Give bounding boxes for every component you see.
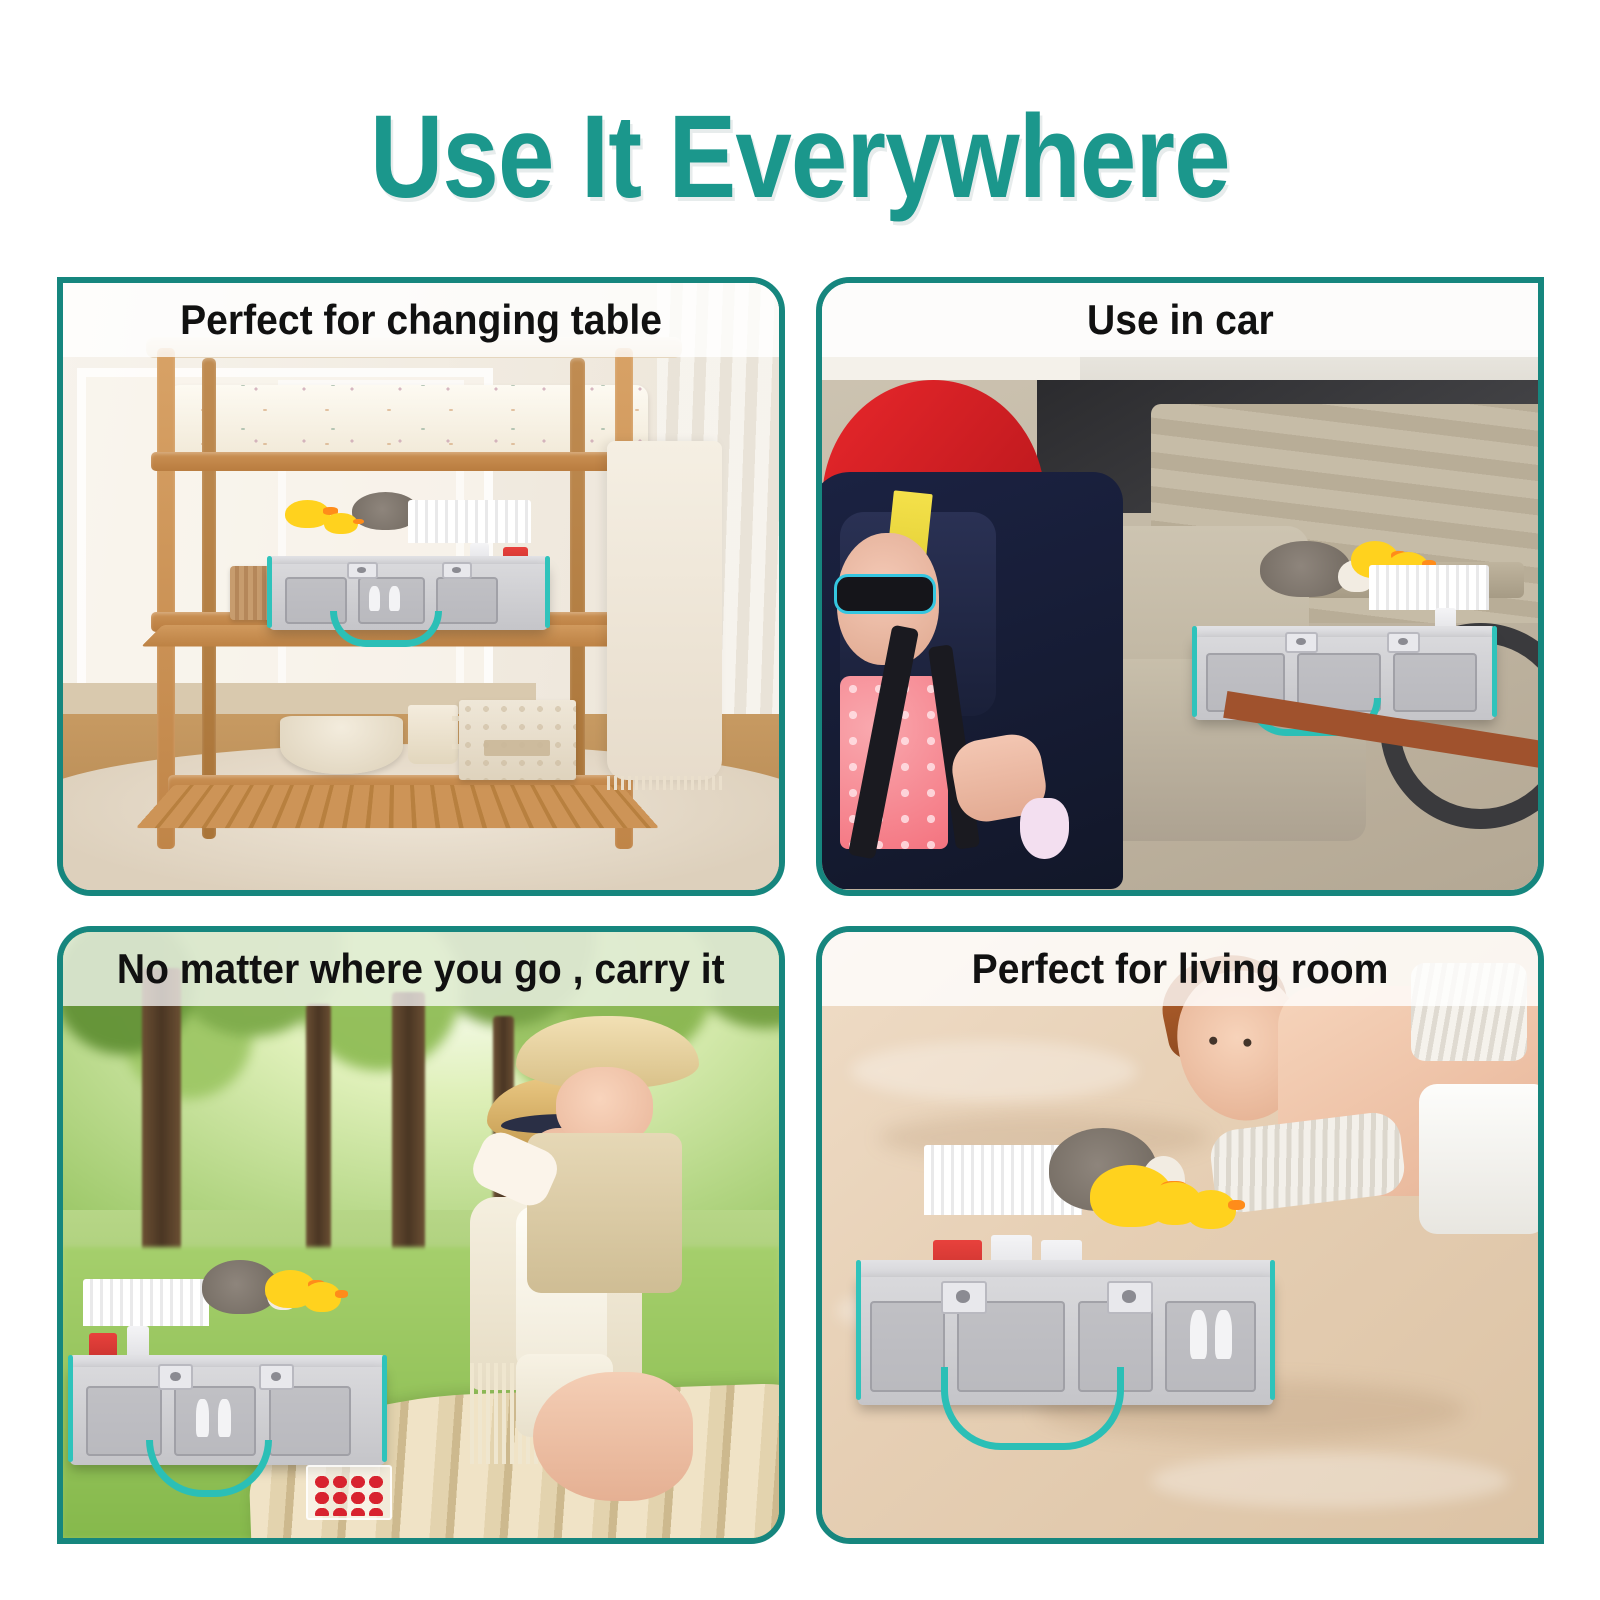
hanging-throw-blanket — [607, 441, 722, 781]
caddy-snap — [259, 1364, 294, 1389]
panel-car[interactable]: Use in car — [816, 277, 1544, 896]
caddy-trim-right — [545, 556, 550, 629]
baby-eye — [1208, 1036, 1217, 1045]
photo-changing-table: Perfect for changing table — [63, 283, 779, 890]
caption-band-car: Use in car — [822, 283, 1538, 357]
caddy-pocket — [436, 577, 497, 624]
wash-bowl — [280, 716, 403, 775]
infant-car-seat — [822, 380, 1123, 889]
diaper-caddy-organizer — [70, 1308, 385, 1466]
spoon — [196, 1399, 209, 1437]
duck-toy-icon — [324, 513, 358, 534]
mother-legs — [533, 1372, 693, 1501]
diaper-stack — [1369, 565, 1489, 610]
caddy-snap — [941, 1281, 987, 1314]
baby-diaper — [1419, 1084, 1538, 1234]
table-leg-left — [157, 348, 175, 850]
panel-living-room[interactable]: Perfect for living room — [816, 926, 1544, 1545]
hedgehog-plush-icon — [1260, 541, 1350, 597]
caption-outdoors: No matter where you go , carry it — [117, 947, 725, 991]
caption-changing-table: Perfect for changing table — [180, 298, 662, 342]
park-scene — [63, 932, 779, 1539]
photo-living-room: Perfect for living room — [822, 932, 1538, 1539]
car-interior-scene — [822, 283, 1538, 890]
sunglasses-icon — [834, 574, 936, 615]
caddy-trim-right — [1492, 626, 1497, 717]
baby-sock — [1020, 798, 1068, 859]
caption-band-changing-table: Perfect for changing table — [63, 283, 779, 357]
grooming-spoon — [1190, 1310, 1207, 1359]
diaper-stack — [83, 1279, 209, 1326]
caddy-trim-right — [1270, 1260, 1275, 1400]
panel-grid: Perfect for changing table — [57, 277, 1544, 1544]
panel-outdoors[interactable]: No matter where you go , carry it — [57, 926, 785, 1545]
strawberry-container — [306, 1465, 392, 1520]
caddy-pocket — [870, 1301, 945, 1392]
caption-band-outdoors: No matter where you go , carry it — [63, 932, 779, 1006]
tree-trunk — [392, 992, 424, 1271]
caddy-snap — [1285, 632, 1318, 653]
caddy-snap — [442, 562, 473, 579]
pitcher — [408, 705, 458, 764]
spoon — [369, 586, 380, 612]
caddy-snap — [158, 1364, 193, 1389]
caddy-trim-right — [382, 1355, 387, 1462]
table-shelf-top — [151, 452, 642, 471]
diaper-stack — [408, 500, 531, 543]
photo-outdoors: No matter where you go , carry it — [63, 932, 779, 1539]
caddy-snap — [1107, 1281, 1153, 1314]
grooming-scissors — [1215, 1310, 1232, 1359]
diaper-caddy-organizer — [858, 1198, 1273, 1404]
spoon — [389, 586, 400, 612]
caption-band-living-room: Perfect for living room — [822, 932, 1538, 1006]
duck-toy-icon — [285, 500, 330, 528]
caddy-trim-left — [856, 1260, 861, 1400]
photo-car: Use in car — [822, 283, 1538, 890]
page-title: Use It Everywhere — [0, 92, 1600, 222]
caddy-trim-left — [68, 1355, 73, 1462]
tree-trunk — [142, 968, 181, 1259]
blanket-scene — [822, 932, 1538, 1539]
caddy-snap — [347, 562, 378, 579]
tree-trunk — [306, 1004, 331, 1259]
table-bottom-slats — [135, 785, 659, 828]
duck-toy-icon — [303, 1282, 341, 1312]
caddy-pocket — [1165, 1301, 1256, 1392]
panel-changing-table[interactable]: Perfect for changing table — [57, 277, 785, 896]
blanket-fold — [851, 1041, 1137, 1102]
caddy-snap — [1387, 632, 1420, 653]
caddy-pocket — [1393, 653, 1477, 712]
storage-box-label — [484, 740, 550, 756]
table-leg-left-back — [202, 358, 217, 838]
caddy-pocket — [269, 1386, 351, 1455]
baby-figure — [493, 1016, 779, 1380]
caddy-trim-left — [1192, 626, 1197, 717]
duck-toy-icon — [1186, 1190, 1236, 1229]
nursery-scene — [63, 283, 779, 890]
caddy-trim-left — [267, 556, 272, 629]
caption-car: Use in car — [1087, 298, 1274, 342]
baby-eye — [1242, 1038, 1251, 1047]
caption-living-room: Perfect for living room — [972, 947, 1389, 991]
blanket-fold — [1151, 1453, 1509, 1508]
caddy-handle — [941, 1367, 1124, 1449]
infographic-page: Use It Everywhere — [0, 0, 1600, 1600]
diaper-caddy-organizer — [269, 524, 548, 631]
page-title-text: Use It Everywhere — [370, 98, 1230, 216]
spoon — [218, 1399, 231, 1437]
fabric-storage-box — [459, 700, 576, 780]
